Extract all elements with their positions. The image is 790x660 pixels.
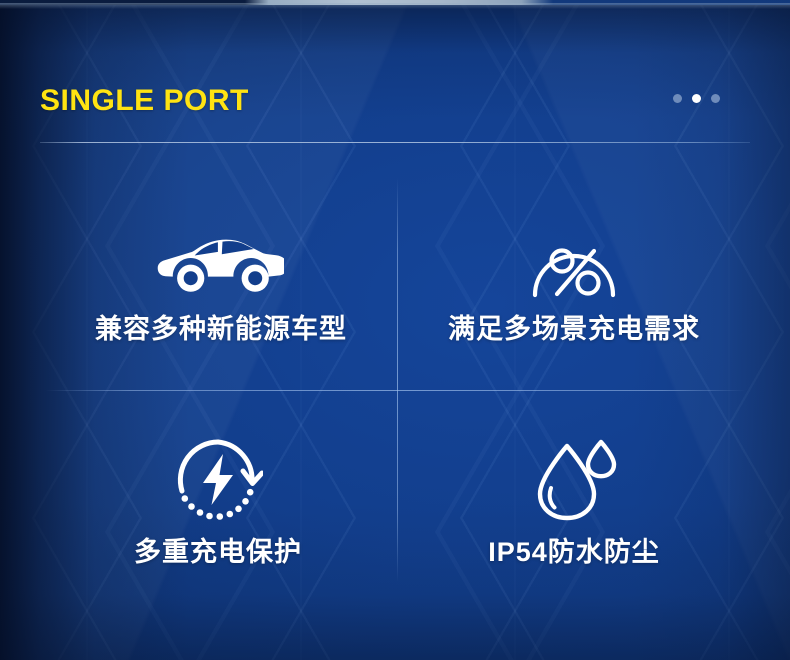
lightning-cycle-icon (173, 434, 263, 526)
section-header: SINGLE PORT (40, 78, 750, 124)
page-title: SINGLE PORT (40, 78, 249, 124)
top-edge-strip-fade (0, 3, 790, 9)
header-divider (40, 142, 750, 143)
car-icon (152, 215, 284, 307)
feature-item-waterproof-rating: IP54防水防尘 (396, 391, 752, 611)
feature-item-charging-protection: 多重充电保护 (40, 391, 396, 611)
feature-label: IP54防水防尘 (488, 536, 660, 568)
feature-label: 满足多场景充电需求 (448, 313, 700, 345)
carousel-dot-3[interactable] (711, 94, 720, 103)
carousel-dots[interactable] (673, 94, 720, 103)
single-port-feature-section: SINGLE PORT 兼容多种新能源车型 (0, 0, 790, 660)
water-drop-icon (531, 434, 617, 526)
feature-item-vehicle-compatibility: 兼容多种新能源车型 (40, 170, 396, 390)
feature-label: 多重充电保护 (134, 536, 302, 568)
carousel-dot-2[interactable] (692, 94, 701, 103)
percent-gauge-icon (528, 215, 620, 307)
feature-item-charging-scenarios: 满足多场景充电需求 (396, 170, 752, 390)
feature-label: 兼容多种新能源车型 (95, 313, 347, 345)
carousel-dot-1[interactable] (673, 94, 682, 103)
feature-grid: 兼容多种新能源车型 满足多场景充电需求 (40, 170, 752, 590)
